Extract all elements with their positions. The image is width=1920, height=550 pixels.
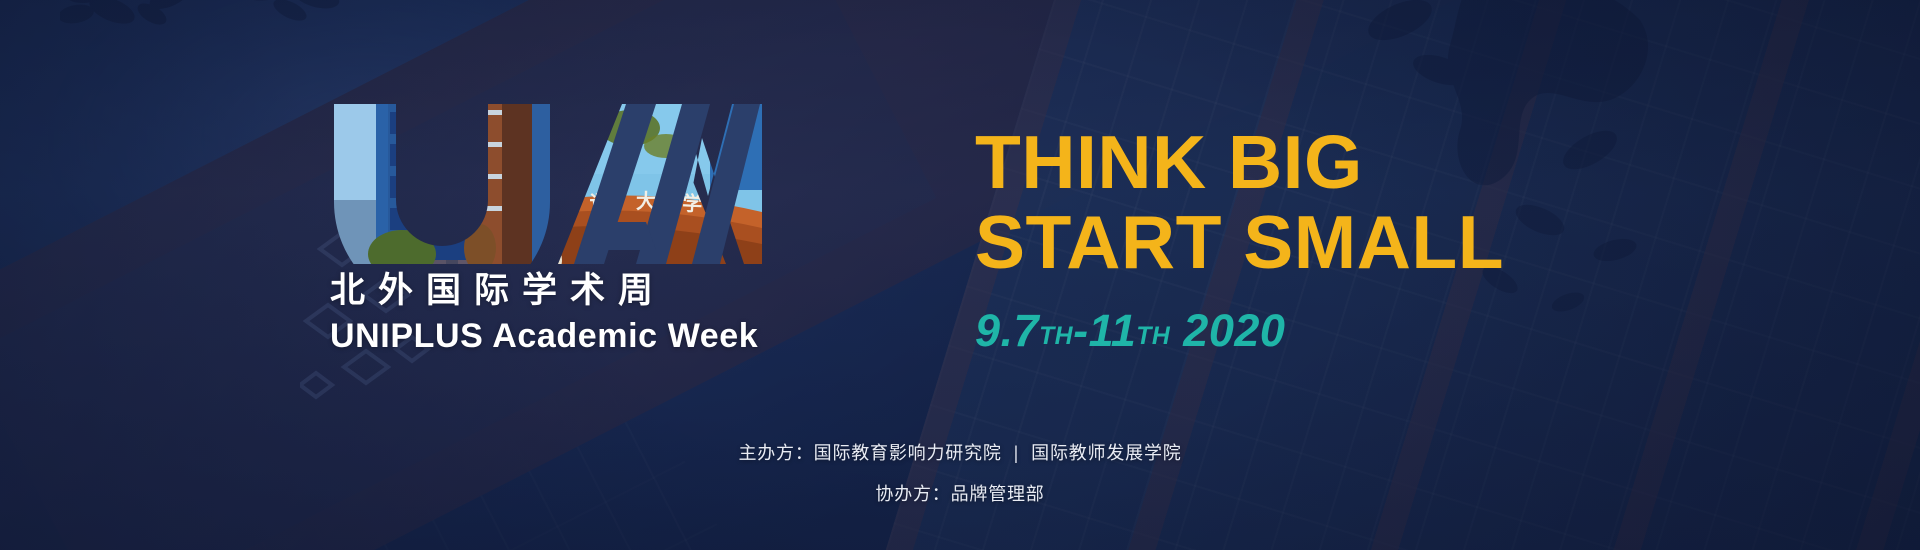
banner-content: 北 京 外 国 语 大 学 [0, 0, 1920, 550]
headline-line-1: THINK BIG [975, 122, 1504, 202]
coorganizer-label: 协办方： [875, 484, 950, 504]
uaw-monogram-svg: 北 京 外 国 语 大 学 [330, 104, 762, 264]
headline-block: THINK BIG START SMALL 9.7TH-11TH 2020 [975, 122, 1504, 357]
host-label: 主办方： [738, 443, 813, 463]
chinese-event-title: 北外国际学术周 [330, 270, 770, 311]
date-year: 2020 [1183, 305, 1285, 357]
uaw-monogram: 北 京 外 国 语 大 学 [330, 104, 762, 264]
host-separator: | [1002, 443, 1031, 463]
coorganizer-org: 品牌管理部 [951, 484, 1045, 504]
event-dateline: 9.7TH-11TH 2020 [975, 305, 1504, 357]
coorganizer-line: 协办方：品牌管理部 [0, 481, 1920, 508]
date-start-day: 9.7 [975, 305, 1039, 357]
date-range-dash: - [1073, 305, 1089, 357]
logo-lockup: 北 京 外 国 语 大 学 [330, 104, 770, 356]
organizer-credits: 主办方：国际教育影响力研究院|国际教师发展学院 协办方：品牌管理部 [0, 440, 1920, 508]
host-org-1: 国际教育影响力研究院 [814, 443, 1002, 463]
date-end-day: 11 [1089, 305, 1137, 357]
host-line: 主办方：国际教育影响力研究院|国际教师发展学院 [0, 440, 1920, 467]
english-event-title: UNIPLUS Academic Week [330, 317, 770, 356]
host-org-2: 国际教师发展学院 [1031, 443, 1181, 463]
headline-line-2: START SMALL [975, 202, 1504, 282]
event-banner: 北 京 外 国 语 大 学 [0, 0, 1920, 550]
